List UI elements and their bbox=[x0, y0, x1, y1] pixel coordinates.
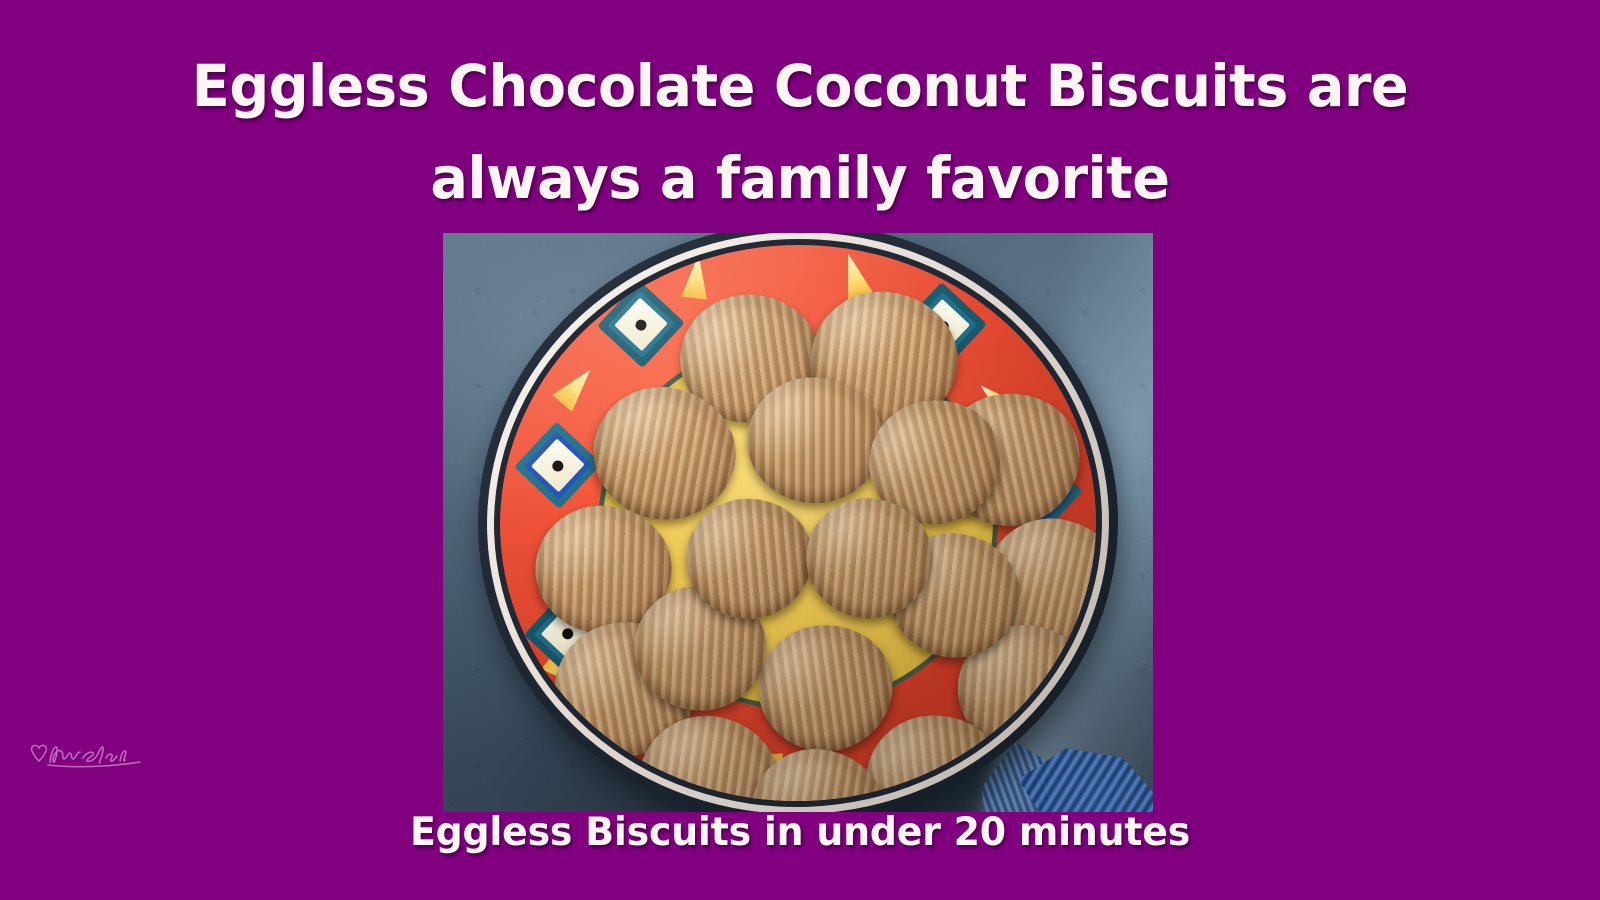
diamond-mid bbox=[524, 431, 592, 499]
biscuit bbox=[747, 377, 883, 503]
biscuits-photo bbox=[443, 233, 1153, 812]
diamond-dot bbox=[550, 457, 566, 473]
diamond-outer bbox=[995, 448, 1083, 536]
page-title-line-1: Eggless Chocolate Coconut Biscuits are bbox=[32, 38, 1568, 134]
page-title: Eggless Chocolate Coconut Biscuits are a… bbox=[32, 38, 1568, 226]
biscuit bbox=[856, 386, 1014, 538]
diamond-inner bbox=[541, 606, 595, 660]
plate-wedge bbox=[552, 361, 600, 411]
caption: Eggless Biscuits in under 20 minutes bbox=[24, 806, 1576, 860]
biscuit bbox=[544, 610, 707, 767]
page-title-line-2: always a family favorite bbox=[32, 130, 1568, 226]
heart-signature-watermark bbox=[28, 735, 148, 771]
plate-wedge bbox=[972, 375, 1022, 424]
plate-wedge bbox=[757, 753, 786, 799]
diamond-mid bbox=[909, 291, 977, 359]
plate-diamond-motif bbox=[995, 448, 1083, 536]
diamond-dot bbox=[935, 318, 951, 334]
biscuit bbox=[928, 380, 1092, 538]
diamond-inner bbox=[531, 438, 585, 492]
diamond-dot bbox=[633, 316, 649, 332]
biscuit bbox=[801, 493, 937, 624]
biscuit bbox=[805, 284, 964, 435]
biscuit bbox=[630, 707, 787, 811]
biscuit bbox=[672, 285, 826, 431]
pinterest-pin-graphic: Eggless Chocolate Coconut Biscuits are a… bbox=[0, 0, 1600, 900]
diamond-mid bbox=[534, 599, 602, 667]
plate-wedge bbox=[836, 250, 873, 299]
biscuit bbox=[883, 526, 1027, 665]
biscuit bbox=[583, 376, 746, 531]
plate-yellow-well bbox=[592, 329, 1005, 717]
diamond-dot bbox=[1031, 484, 1047, 500]
decorative-plate bbox=[468, 233, 1129, 812]
biscuit bbox=[681, 493, 817, 624]
biscuit bbox=[751, 616, 901, 759]
diamond-dot bbox=[560, 625, 576, 641]
plate-wedge bbox=[964, 665, 1014, 714]
biscuit bbox=[631, 583, 769, 714]
diamond-inner bbox=[916, 298, 970, 352]
diamond-inner bbox=[614, 297, 668, 351]
biscuit bbox=[954, 620, 1099, 757]
diamond-inner bbox=[1012, 465, 1066, 519]
biscuit bbox=[533, 503, 673, 636]
plate-diamond-motif bbox=[514, 421, 602, 509]
diamond-mid bbox=[1005, 458, 1073, 526]
diamond-outer bbox=[514, 421, 602, 509]
diamond-dot bbox=[999, 700, 1015, 716]
